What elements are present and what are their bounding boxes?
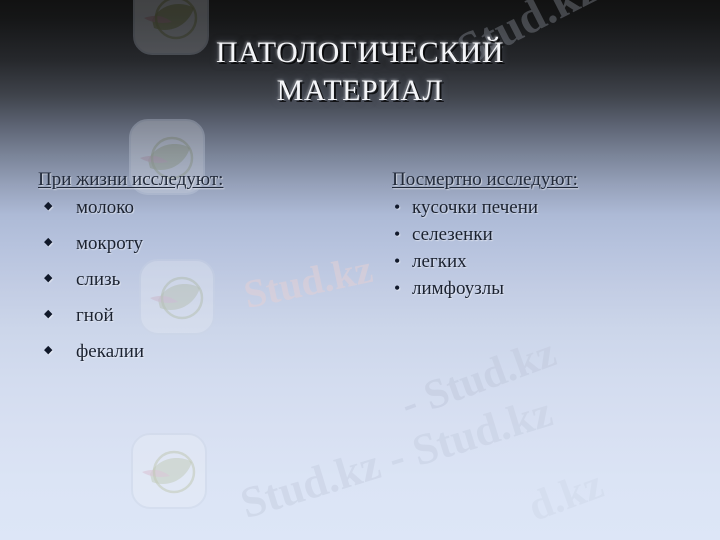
watermark-middle-right: - Stud.kz bbox=[395, 329, 563, 429]
right-column-list: кусочки печени селезенки легких лимфоузл… bbox=[392, 198, 702, 299]
list-item: селезенки bbox=[392, 225, 702, 245]
watermark-bottom-center: Stud.kz - Stud.kz bbox=[235, 386, 559, 529]
left-column-heading: При жизни исследуют: bbox=[38, 168, 368, 192]
slide-title-line-1: ПАТОЛОГИЧЕСКИЙ bbox=[0, 34, 720, 72]
list-item: молоко bbox=[38, 198, 368, 218]
list-item: лимфоузлы bbox=[392, 279, 702, 299]
left-column-list: молоко мокроту слизь гной фекалии bbox=[38, 198, 368, 362]
stud-kz-logo-icon bbox=[130, 432, 208, 510]
list-item: слизь bbox=[38, 270, 368, 290]
left-column: При жизни исследуют: молоко мокроту слиз… bbox=[38, 168, 368, 378]
list-item: гной bbox=[38, 306, 368, 326]
right-column-heading: Посмертно исследуют: bbox=[392, 168, 702, 192]
list-item: кусочки печени bbox=[392, 198, 702, 218]
slide-title: ПАТОЛОГИЧЕСКИЙ МАТЕРИАЛ bbox=[0, 34, 720, 110]
list-item: мокроту bbox=[38, 234, 368, 254]
presentation-slide: Stud.kz Stud.kz - Stud.kz Stud.kz - Stud… bbox=[0, 0, 720, 540]
right-column: Посмертно исследуют: кусочки печени селе… bbox=[392, 168, 702, 306]
watermark-bottom-right: d.kz bbox=[522, 460, 610, 531]
list-item: легких bbox=[392, 252, 702, 272]
slide-title-line-2: МАТЕРИАЛ bbox=[0, 72, 720, 110]
list-item: фекалии bbox=[38, 342, 368, 362]
